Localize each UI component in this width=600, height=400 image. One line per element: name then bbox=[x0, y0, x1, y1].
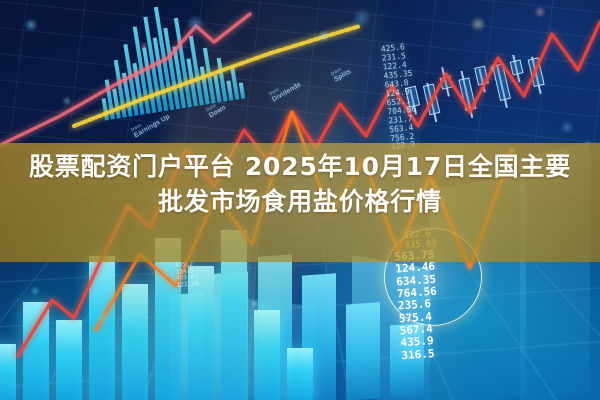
stock-market-banner-image: DateEarnings UpDateDownDateDividendsDate… bbox=[0, 0, 600, 400]
title-line-1: 股票配资门户平台 2025年10月17日全国主要 bbox=[29, 152, 571, 181]
small-ticker-column: 435.2 124.9 463.41 122.20 bbox=[175, 261, 199, 290]
axis-label-splits: DateSplits bbox=[330, 63, 352, 83]
axis-label-earnings-up: DateEarnings Up bbox=[130, 108, 171, 139]
axis-label-dividends: DateDividends bbox=[268, 76, 302, 103]
title-line-2: 批发市场食用盐价格行情 bbox=[0, 185, 600, 220]
axis-label-down: DateDown bbox=[205, 99, 227, 119]
page-title: 股票配资门户平台 2025年10月17日全国主要 批发市场食用盐价格行情 bbox=[0, 150, 600, 219]
magnified-ticker-column: 563.75 124.46 634.35 764.56 235.6 575.4 … bbox=[394, 249, 441, 362]
